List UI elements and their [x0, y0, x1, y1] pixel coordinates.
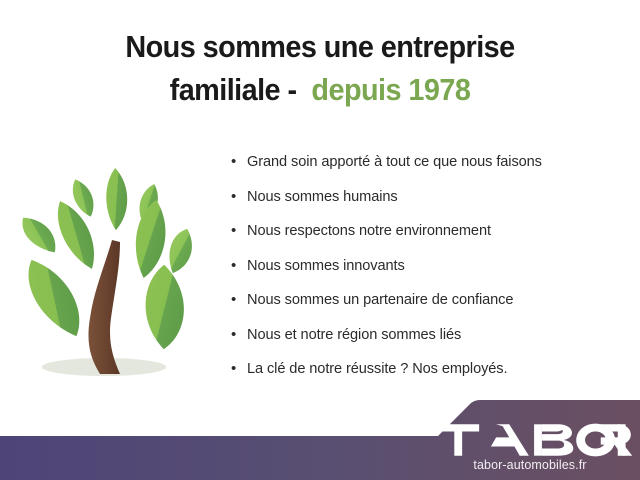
headline-line-2-main: familiale -	[170, 72, 312, 107]
bullet-marker-icon: •	[231, 187, 247, 207]
list-item-label: Nous respectons notre environnement	[247, 221, 491, 241]
bullet-marker-icon: •	[231, 256, 247, 276]
tabor-logo-icon	[436, 423, 632, 457]
bullet-marker-icon: •	[231, 290, 247, 310]
tree-illustration	[8, 150, 218, 390]
bullet-marker-icon: •	[231, 152, 247, 172]
page-title: Nous sommes une entreprise familiale - d…	[22, 26, 617, 112]
list-item-label: La clé de notre réussite ? Nos employés.	[247, 359, 507, 379]
list-item-label: Grand soin apporté à tout ce que nous fa…	[247, 152, 542, 172]
list-item-label: Nous sommes un partenaire de confiance	[247, 290, 513, 310]
bullet-marker-icon: •	[231, 221, 247, 241]
headline-line-1: Nous sommes une entreprise	[22, 26, 617, 69]
list-item-label: Nous sommes innovants	[247, 256, 405, 276]
list-item: • Nous et notre région sommes liés	[231, 325, 631, 360]
brand-url: tabor-automobiles.fr	[436, 458, 626, 472]
brand-lockup: tabor-automobiles.fr	[436, 423, 626, 472]
list-item-label: Nous et notre région sommes liés	[247, 325, 461, 345]
list-item: • Nous respectons notre environnement	[231, 221, 631, 256]
footer-band: tabor-automobiles.fr	[0, 398, 640, 480]
headline-accent-year: depuis 1978	[311, 72, 470, 107]
list-item: • Nous sommes un partenaire de confiance	[231, 290, 631, 325]
headline-line-2: familiale - depuis 1978	[22, 69, 617, 112]
slide-canvas: Nous sommes une entreprise familiale - d…	[0, 0, 640, 480]
list-item: • Grand soin apporté à tout ce que nous …	[231, 152, 631, 187]
bullet-marker-icon: •	[231, 359, 247, 379]
list-item-label: Nous sommes humains	[247, 187, 398, 207]
list-item: • Nous sommes innovants	[231, 256, 631, 291]
list-item: • Nous sommes humains	[231, 187, 631, 222]
bullet-marker-icon: •	[231, 325, 247, 345]
value-bullet-list: • Grand soin apporté à tout ce que nous …	[231, 152, 631, 394]
list-item: • La clé de notre réussite ? Nos employé…	[231, 359, 631, 394]
